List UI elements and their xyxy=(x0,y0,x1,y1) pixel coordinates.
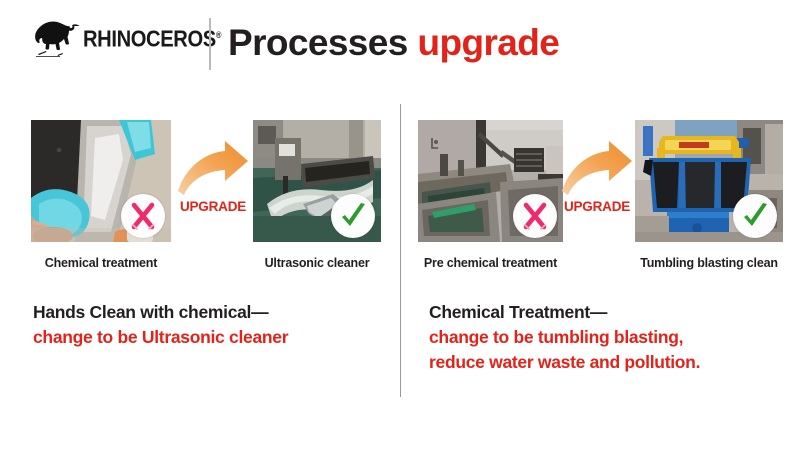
cross-badge-icon xyxy=(121,194,165,238)
process-panel-right: Pre chemical treatment UPGRADE xyxy=(400,0,800,449)
upgrade-label: UPGRADE xyxy=(552,199,642,214)
summary-body-line-2: reduce water waste and pollution. xyxy=(429,350,799,375)
summary-heading: Chemical Treatment— xyxy=(429,300,799,325)
photo-pre-chemical-treatment xyxy=(418,120,563,242)
photo-tumbling-blasting-machine xyxy=(635,120,783,242)
process-panel-left: Chemical treatment UPGRADE xyxy=(0,0,400,449)
figure-caption: Chemical treatment xyxy=(31,256,171,270)
figure-before-right: Pre chemical treatment xyxy=(418,120,563,270)
summary-heading: Hands Clean with chemical— xyxy=(33,300,393,325)
summary-body-line-1: change to be tumbling blasting, xyxy=(429,325,799,350)
figure-caption: Pre chemical treatment xyxy=(418,256,563,270)
cross-badge-icon xyxy=(513,194,557,238)
check-badge-icon xyxy=(733,194,777,238)
figure-caption: Ultrasonic cleaner xyxy=(253,256,381,270)
summary-body-line-1: change to be Ultrasonic cleaner xyxy=(33,325,393,350)
summary-text-right: Chemical Treatment— change to be tumblin… xyxy=(429,300,799,375)
upgrade-group-left: UPGRADE xyxy=(168,139,258,214)
upgrade-arrow-icon xyxy=(552,139,642,197)
upgrade-arrow-icon xyxy=(168,139,258,197)
summary-text-left: Hands Clean with chemical— change to be … xyxy=(33,300,393,350)
photo-ultrasonic-cleaner xyxy=(253,120,381,242)
upgrade-label: UPGRADE xyxy=(168,199,258,214)
upgrade-group-right: UPGRADE xyxy=(552,139,642,214)
figure-caption: Tumbling blasting clean xyxy=(635,256,783,270)
photo-hands-chemical-treatment xyxy=(31,120,171,242)
check-badge-icon xyxy=(331,194,375,238)
figure-before-left: Chemical treatment xyxy=(31,120,171,270)
figure-after-right: Tumbling blasting clean xyxy=(635,120,783,270)
figure-after-left: Ultrasonic cleaner xyxy=(253,120,381,270)
